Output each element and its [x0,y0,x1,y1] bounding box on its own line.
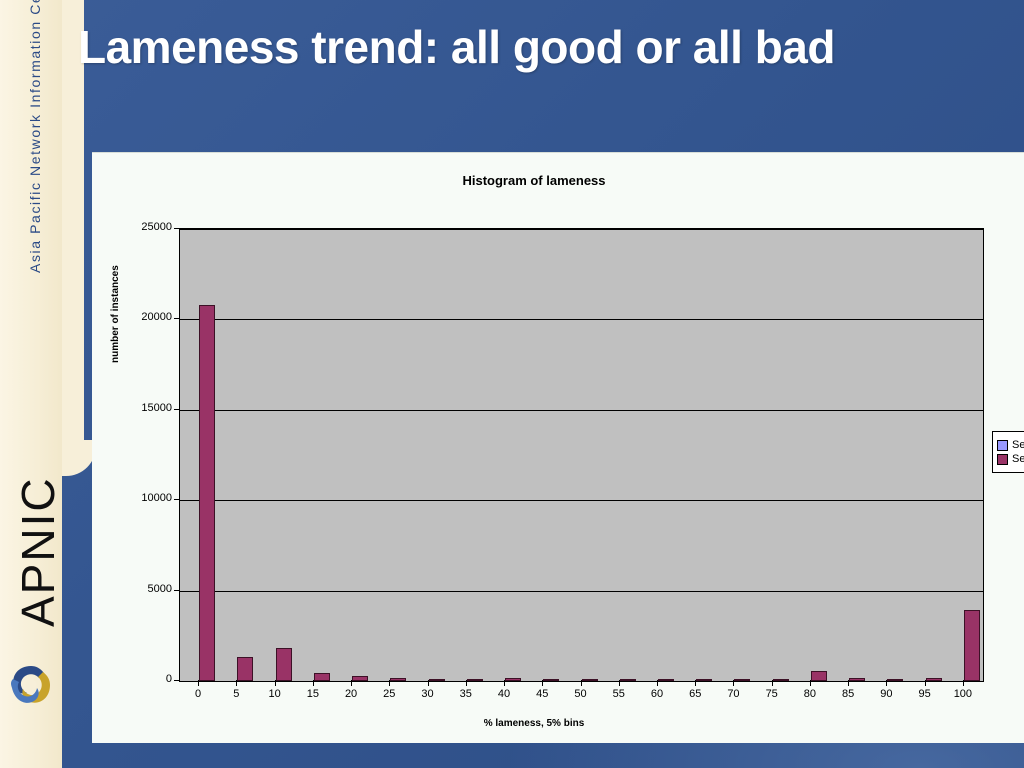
x-tick-mark [198,680,199,686]
x-tick-mark [695,680,696,686]
x-tick-label: 15 [293,688,333,700]
bar [696,679,712,681]
bar [276,648,292,681]
x-tick-label: 90 [866,688,906,700]
x-tick-mark [389,680,390,686]
x-tick-mark [963,680,964,686]
bar [811,671,827,681]
page-title: Lameness trend: all good or all bad [78,22,978,74]
legend-item: Series1 [997,439,1024,451]
x-tick-label: 50 [561,688,601,700]
x-tick-mark [313,680,314,686]
x-tick-label: 0 [178,688,218,700]
bar [467,679,483,681]
x-tick-mark [810,680,811,686]
y-tick-mark [174,228,179,229]
x-tick-label: 80 [790,688,830,700]
x-tick-mark [886,680,887,686]
apnic-tagline: Asia Pacific Network Information Centre [27,0,43,273]
y-tick-label: 15000 [117,402,172,414]
presentation-slide: Asia Pacific Network Information Centre … [0,0,1024,768]
apnic-side-band: Asia Pacific Network Information Centre … [0,0,62,768]
bar [849,678,865,681]
y-tick-mark [174,318,179,319]
x-tick-mark [236,680,237,686]
apnic-swirl-logo [6,660,56,710]
bar [199,305,215,681]
y-tick-mark [174,590,179,591]
y-axis-label: number of instances [110,183,121,363]
bar [620,679,636,681]
bar [887,679,903,681]
chart-container: Histogram of lameness number of instance… [92,152,1024,743]
x-tick-mark [542,680,543,686]
x-tick-label: 5 [216,688,256,700]
bar [658,679,674,681]
x-tick-mark [848,680,849,686]
bar [734,679,750,681]
x-tick-mark [428,680,429,686]
legend-label: Series1 [1012,439,1024,451]
x-tick-label: 55 [599,688,639,700]
y-tick-mark [174,409,179,410]
bar [505,678,521,681]
y-tick-label: 25000 [117,221,172,233]
grid-line [180,319,983,320]
x-tick-mark [504,680,505,686]
y-tick-label: 0 [117,673,172,685]
legend-label: Series2 [1012,453,1024,465]
x-tick-label: 60 [637,688,677,700]
legend-swatch-icon [997,440,1008,451]
plot-area [179,228,984,682]
bar [773,679,789,681]
bar [429,679,445,681]
x-tick-label: 30 [408,688,448,700]
grid-line [180,591,983,592]
x-tick-mark [619,680,620,686]
apnic-wordmark: APNIC [11,477,65,627]
x-tick-label: 95 [905,688,945,700]
y-tick-label: 20000 [117,311,172,323]
x-tick-mark [351,680,352,686]
x-tick-label: 10 [255,688,295,700]
x-tick-label: 25 [369,688,409,700]
x-tick-mark [925,680,926,686]
bar [237,657,253,681]
x-tick-mark [772,680,773,686]
y-tick-mark [174,680,179,681]
grid-line [180,229,983,230]
bar [582,679,598,681]
x-axis-label: % lameness, 5% bins [92,718,976,729]
bar [390,678,406,681]
x-tick-label: 35 [446,688,486,700]
x-tick-label: 45 [522,688,562,700]
bar [543,679,559,681]
bar [314,673,330,681]
bar [964,610,980,681]
x-tick-label: 20 [331,688,371,700]
grid-line [180,410,983,411]
bar [926,678,942,681]
legend-item: Series2 [997,453,1024,465]
grid-line [180,500,983,501]
x-tick-mark [466,680,467,686]
chart-title: Histogram of lameness [92,173,976,188]
y-tick-mark [174,499,179,500]
x-tick-label: 75 [752,688,792,700]
bar [352,676,368,681]
chart-legend: Series1Series2 [992,431,1024,473]
x-tick-mark [733,680,734,686]
x-tick-mark [275,680,276,686]
x-tick-mark [581,680,582,686]
x-tick-label: 65 [675,688,715,700]
y-tick-label: 5000 [117,583,172,595]
x-tick-label: 40 [484,688,524,700]
x-tick-label: 85 [828,688,868,700]
legend-swatch-icon [997,454,1008,465]
x-tick-mark [657,680,658,686]
y-tick-label: 10000 [117,492,172,504]
x-tick-label: 70 [713,688,753,700]
x-tick-label: 100 [943,688,983,700]
